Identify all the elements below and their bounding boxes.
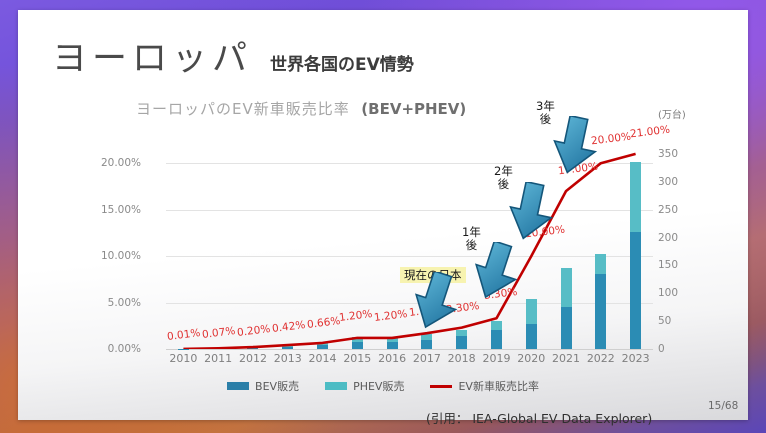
bar-segment-phev xyxy=(561,268,572,307)
y-axis-tick-label: 10.00% xyxy=(81,250,141,262)
line-data-label: 21.00% xyxy=(629,124,670,141)
gridline xyxy=(166,349,653,350)
y2-axis-tick-label: 50 xyxy=(658,315,708,327)
bar-segment-bev xyxy=(526,324,537,349)
bar-column xyxy=(305,343,340,349)
bar-column xyxy=(410,334,445,349)
bar-segment-bev xyxy=(491,330,502,349)
bar-column xyxy=(514,299,549,349)
arrow-down-icon-plus-1-year xyxy=(473,242,519,304)
legend-item[interactable]: BEV販売 xyxy=(227,378,299,394)
bar-segment-bev xyxy=(387,342,398,349)
bar-column xyxy=(618,162,653,349)
bar-segment-bev xyxy=(595,274,606,349)
right-axis-unit-label: (万台) xyxy=(658,106,686,121)
bar-column xyxy=(201,348,236,349)
bar-column xyxy=(479,321,514,349)
y2-axis-tick-label: 150 xyxy=(658,259,708,271)
y2-axis-tick-label: 0 xyxy=(658,343,708,355)
presentation-slide: ヨーロッパ 世界各国のEV情勢 ヨーロッパのEV新車販売比率 (BEV+PHEV… xyxy=(18,10,748,420)
y2-axis-tick-label: 350 xyxy=(658,148,708,160)
arrow-down-icon-plus-2-years xyxy=(508,182,554,244)
bar-segment-bev xyxy=(456,336,467,349)
page-number: 15/68 xyxy=(708,400,738,412)
bar-column xyxy=(270,346,305,349)
source-citation: (引用： IEA-Global EV Data Explorer) xyxy=(426,408,652,427)
bar-column xyxy=(375,338,410,349)
y-axis-tick-label: 5.00% xyxy=(81,297,141,309)
y2-axis-tick-label: 300 xyxy=(658,176,708,188)
bar-segment-bev xyxy=(421,340,432,349)
x-axis-tick-label: 2023 xyxy=(616,352,656,365)
arrow-down-icon-plus-3-years xyxy=(552,116,598,178)
y-axis-tick-label: 15.00% xyxy=(81,204,141,216)
y2-axis-tick-label: 250 xyxy=(658,204,708,216)
y-axis-tick-label: 20.00% xyxy=(81,157,141,169)
bar-segment-bev xyxy=(352,342,363,349)
bar-column xyxy=(549,268,584,349)
y2-axis-tick-label: 200 xyxy=(658,232,708,244)
bar-column xyxy=(236,347,271,349)
bar-segment-bev xyxy=(282,347,293,349)
bar-segment-phev xyxy=(630,162,641,232)
chart-area: (万台) 0.00%5.00%10.00%15.00%20.00%0501001… xyxy=(18,10,748,420)
bar-segment-phev xyxy=(491,321,502,330)
legend-label: PHEV販売 xyxy=(353,378,404,394)
bar-segment-phev xyxy=(595,254,606,274)
legend-item[interactable]: EV新車販売比率 xyxy=(430,378,538,394)
bar-segment-bev xyxy=(561,307,572,349)
bar-column xyxy=(583,254,618,349)
bar-segment-bev xyxy=(247,348,258,349)
bar-segment-bev xyxy=(213,348,224,349)
legend-swatch xyxy=(430,385,452,388)
slide-viewer-background: ヨーロッパ 世界各国のEV情勢 ヨーロッパのEV新車販売比率 (BEV+PHEV… xyxy=(0,0,766,433)
y-axis-tick-label: 0.00% xyxy=(81,343,141,355)
legend-item[interactable]: PHEV販売 xyxy=(325,378,404,394)
bar-segment-phev xyxy=(526,299,537,324)
bar-column xyxy=(340,337,375,349)
bar-segment-bev xyxy=(630,232,641,349)
bar-segment-bev xyxy=(317,345,328,349)
legend-label: EV新車販売比率 xyxy=(458,378,538,394)
legend-swatch xyxy=(227,382,249,390)
chart-legend: BEV販売PHEV販売EV新車販売比率 xyxy=(18,378,748,394)
y2-axis-tick-label: 100 xyxy=(658,287,708,299)
legend-swatch xyxy=(325,382,347,390)
arrow-down-icon-now-japan xyxy=(413,272,459,334)
legend-label: BEV販売 xyxy=(255,378,299,394)
